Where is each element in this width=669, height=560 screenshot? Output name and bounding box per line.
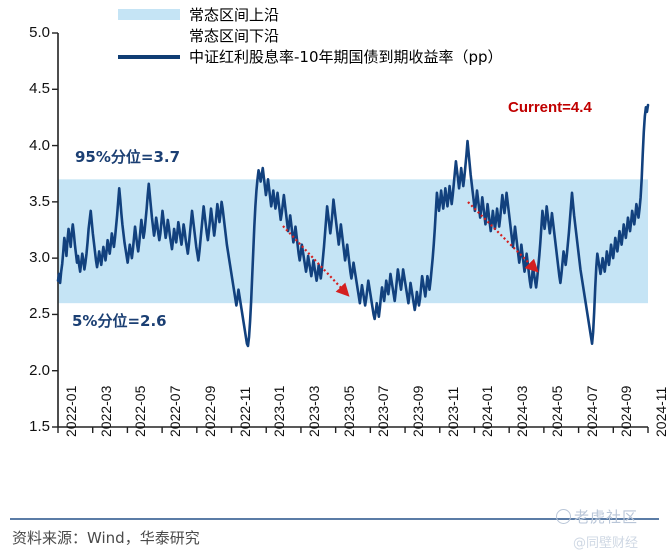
watermark-logo-icon	[556, 509, 571, 524]
x-axis-tick-label: 2023-03	[306, 386, 322, 437]
y-axis-tick-label: 2.0	[8, 362, 50, 379]
x-axis-tick-label: 2022-01	[63, 386, 79, 437]
x-axis-tick-label: 2022-11	[237, 387, 253, 437]
x-axis-tick-label: 2024-03	[514, 386, 530, 437]
y-axis-tick-label: 3.5	[8, 193, 50, 210]
y-axis-tick-label: 2.5	[8, 305, 50, 322]
x-axis-tick-label: 2022-07	[167, 386, 183, 437]
x-axis-tick-label: 2023-11	[445, 387, 461, 437]
x-axis-tick-label: 2023-07	[375, 386, 391, 437]
source-note: 资料来源：Wind，华泰研究	[12, 527, 200, 548]
y-axis-tick-label: 1.5	[8, 418, 50, 435]
x-axis-tick-label: 2023-05	[341, 386, 357, 437]
x-axis-tick-label: 2024-09	[618, 386, 634, 437]
x-axis-tick-label: 2024-01	[479, 386, 495, 437]
y-axis-tick-label: 4.5	[8, 80, 50, 97]
x-axis-tick-label: 2024-05	[549, 386, 565, 437]
y-axis-tick-label: 3.0	[8, 249, 50, 266]
x-axis-tick-label: 2023-09	[410, 386, 426, 437]
watermark-primary: 老虎社区	[556, 506, 638, 527]
annotation-current-value: Current=4.4	[508, 99, 592, 116]
x-axis-tick-label: 2024-11	[653, 387, 669, 437]
x-axis-tick-label: 2022-09	[202, 386, 218, 437]
annotation-95th-percentile: 95%分位=3.7	[75, 146, 180, 167]
x-axis-tick-label: 2023-01	[271, 386, 287, 437]
watermark-secondary: @同壁财经	[573, 532, 638, 551]
x-axis-tick-label: 2022-05	[132, 386, 148, 437]
watermark-primary-text: 老虎社区	[574, 508, 638, 526]
x-axis-tick-label: 2024-07	[584, 386, 600, 437]
annotation-5th-percentile: 5%分位=2.6	[72, 310, 167, 331]
y-axis-tick-label: 4.0	[8, 137, 50, 154]
x-axis-tick-label: 2022-03	[98, 386, 114, 437]
y-axis-tick-label: 5.0	[8, 24, 50, 41]
